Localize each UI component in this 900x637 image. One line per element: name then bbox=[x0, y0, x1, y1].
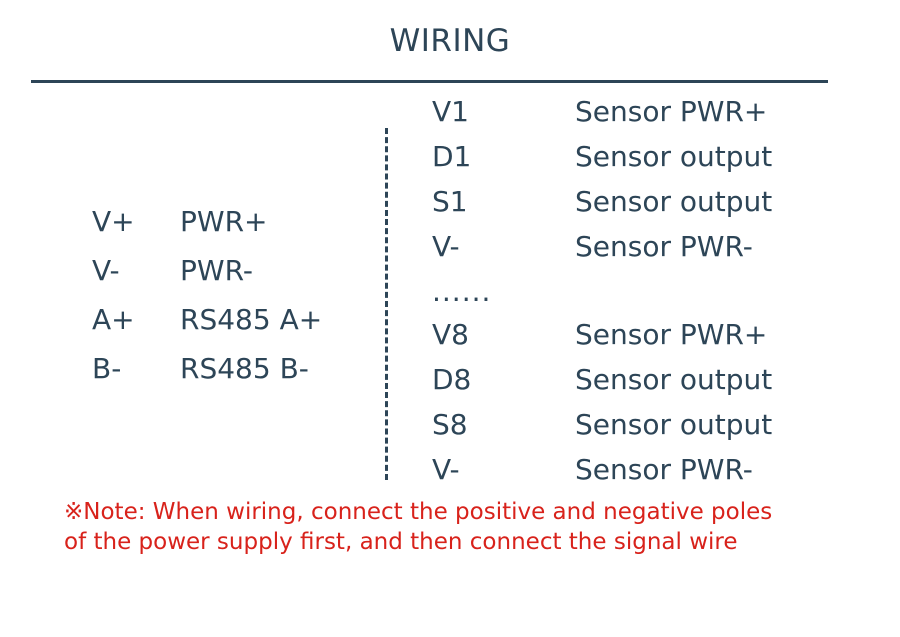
sensor-description: Sensor PWR+ bbox=[575, 321, 767, 349]
terminal-description: RS485 B- bbox=[180, 355, 309, 383]
note-line-1: ※Note: When wiring, connect the positive… bbox=[64, 497, 854, 527]
wiring-diagram: V+ PWR+ V- PWR- A+ RS485 A+ B- RS485 B- … bbox=[0, 88, 900, 488]
sensor-code: S1 bbox=[432, 188, 575, 216]
terminal-row: V- PWR- bbox=[92, 257, 322, 306]
wiring-note: ※Note: When wiring, connect the positive… bbox=[64, 497, 854, 557]
controller-terminal-list: V+ PWR+ V- PWR- A+ RS485 A+ B- RS485 B- bbox=[92, 208, 322, 404]
sensor-code: D8 bbox=[432, 366, 575, 394]
sensor-code: D1 bbox=[432, 143, 575, 171]
sensor-code: V- bbox=[432, 233, 575, 261]
sensor-row-continuation: ...... bbox=[432, 278, 772, 321]
sensor-description: Sensor output bbox=[575, 366, 772, 394]
continuation-ellipsis: ...... bbox=[432, 278, 491, 306]
terminal-code: A+ bbox=[92, 306, 180, 334]
sensor-code: V8 bbox=[432, 321, 575, 349]
sensor-description: Sensor output bbox=[575, 411, 772, 439]
terminal-row: B- RS485 B- bbox=[92, 355, 322, 404]
sensor-row: V- Sensor PWR- bbox=[432, 233, 772, 278]
sensor-description: Sensor PWR- bbox=[575, 233, 753, 261]
sensor-code: V- bbox=[432, 456, 575, 484]
sensor-code: S8 bbox=[432, 411, 575, 439]
sensor-row: D8 Sensor output bbox=[432, 366, 772, 411]
terminal-row: A+ RS485 A+ bbox=[92, 306, 322, 355]
sensor-description: Sensor output bbox=[575, 188, 772, 216]
title-divider-rule bbox=[31, 80, 828, 83]
sensor-terminal-list: V1 Sensor PWR+ D1 Sensor output S1 Senso… bbox=[432, 98, 772, 501]
sensor-row: D1 Sensor output bbox=[432, 143, 772, 188]
sensor-row: S1 Sensor output bbox=[432, 188, 772, 233]
dashed-separator-line bbox=[385, 128, 388, 480]
terminal-row: V+ PWR+ bbox=[92, 208, 322, 257]
sensor-description: Sensor PWR- bbox=[575, 456, 753, 484]
terminal-description: PWR- bbox=[180, 257, 253, 285]
sensor-code: V1 bbox=[432, 98, 575, 126]
note-line-2: of the power supply first, and then conn… bbox=[64, 527, 854, 557]
sensor-row: S8 Sensor output bbox=[432, 411, 772, 456]
sensor-description: Sensor output bbox=[575, 143, 772, 171]
sensor-row: V8 Sensor PWR+ bbox=[432, 321, 772, 366]
page-title: WIRING bbox=[0, 24, 900, 58]
sensor-row: V1 Sensor PWR+ bbox=[432, 98, 772, 143]
terminal-description: RS485 A+ bbox=[180, 306, 322, 334]
terminal-code: B- bbox=[92, 355, 180, 383]
terminal-code: V+ bbox=[92, 208, 180, 236]
sensor-description: Sensor PWR+ bbox=[575, 98, 767, 126]
sensor-row: V- Sensor PWR- bbox=[432, 456, 772, 501]
terminal-code: V- bbox=[92, 257, 180, 285]
terminal-description: PWR+ bbox=[180, 208, 268, 236]
